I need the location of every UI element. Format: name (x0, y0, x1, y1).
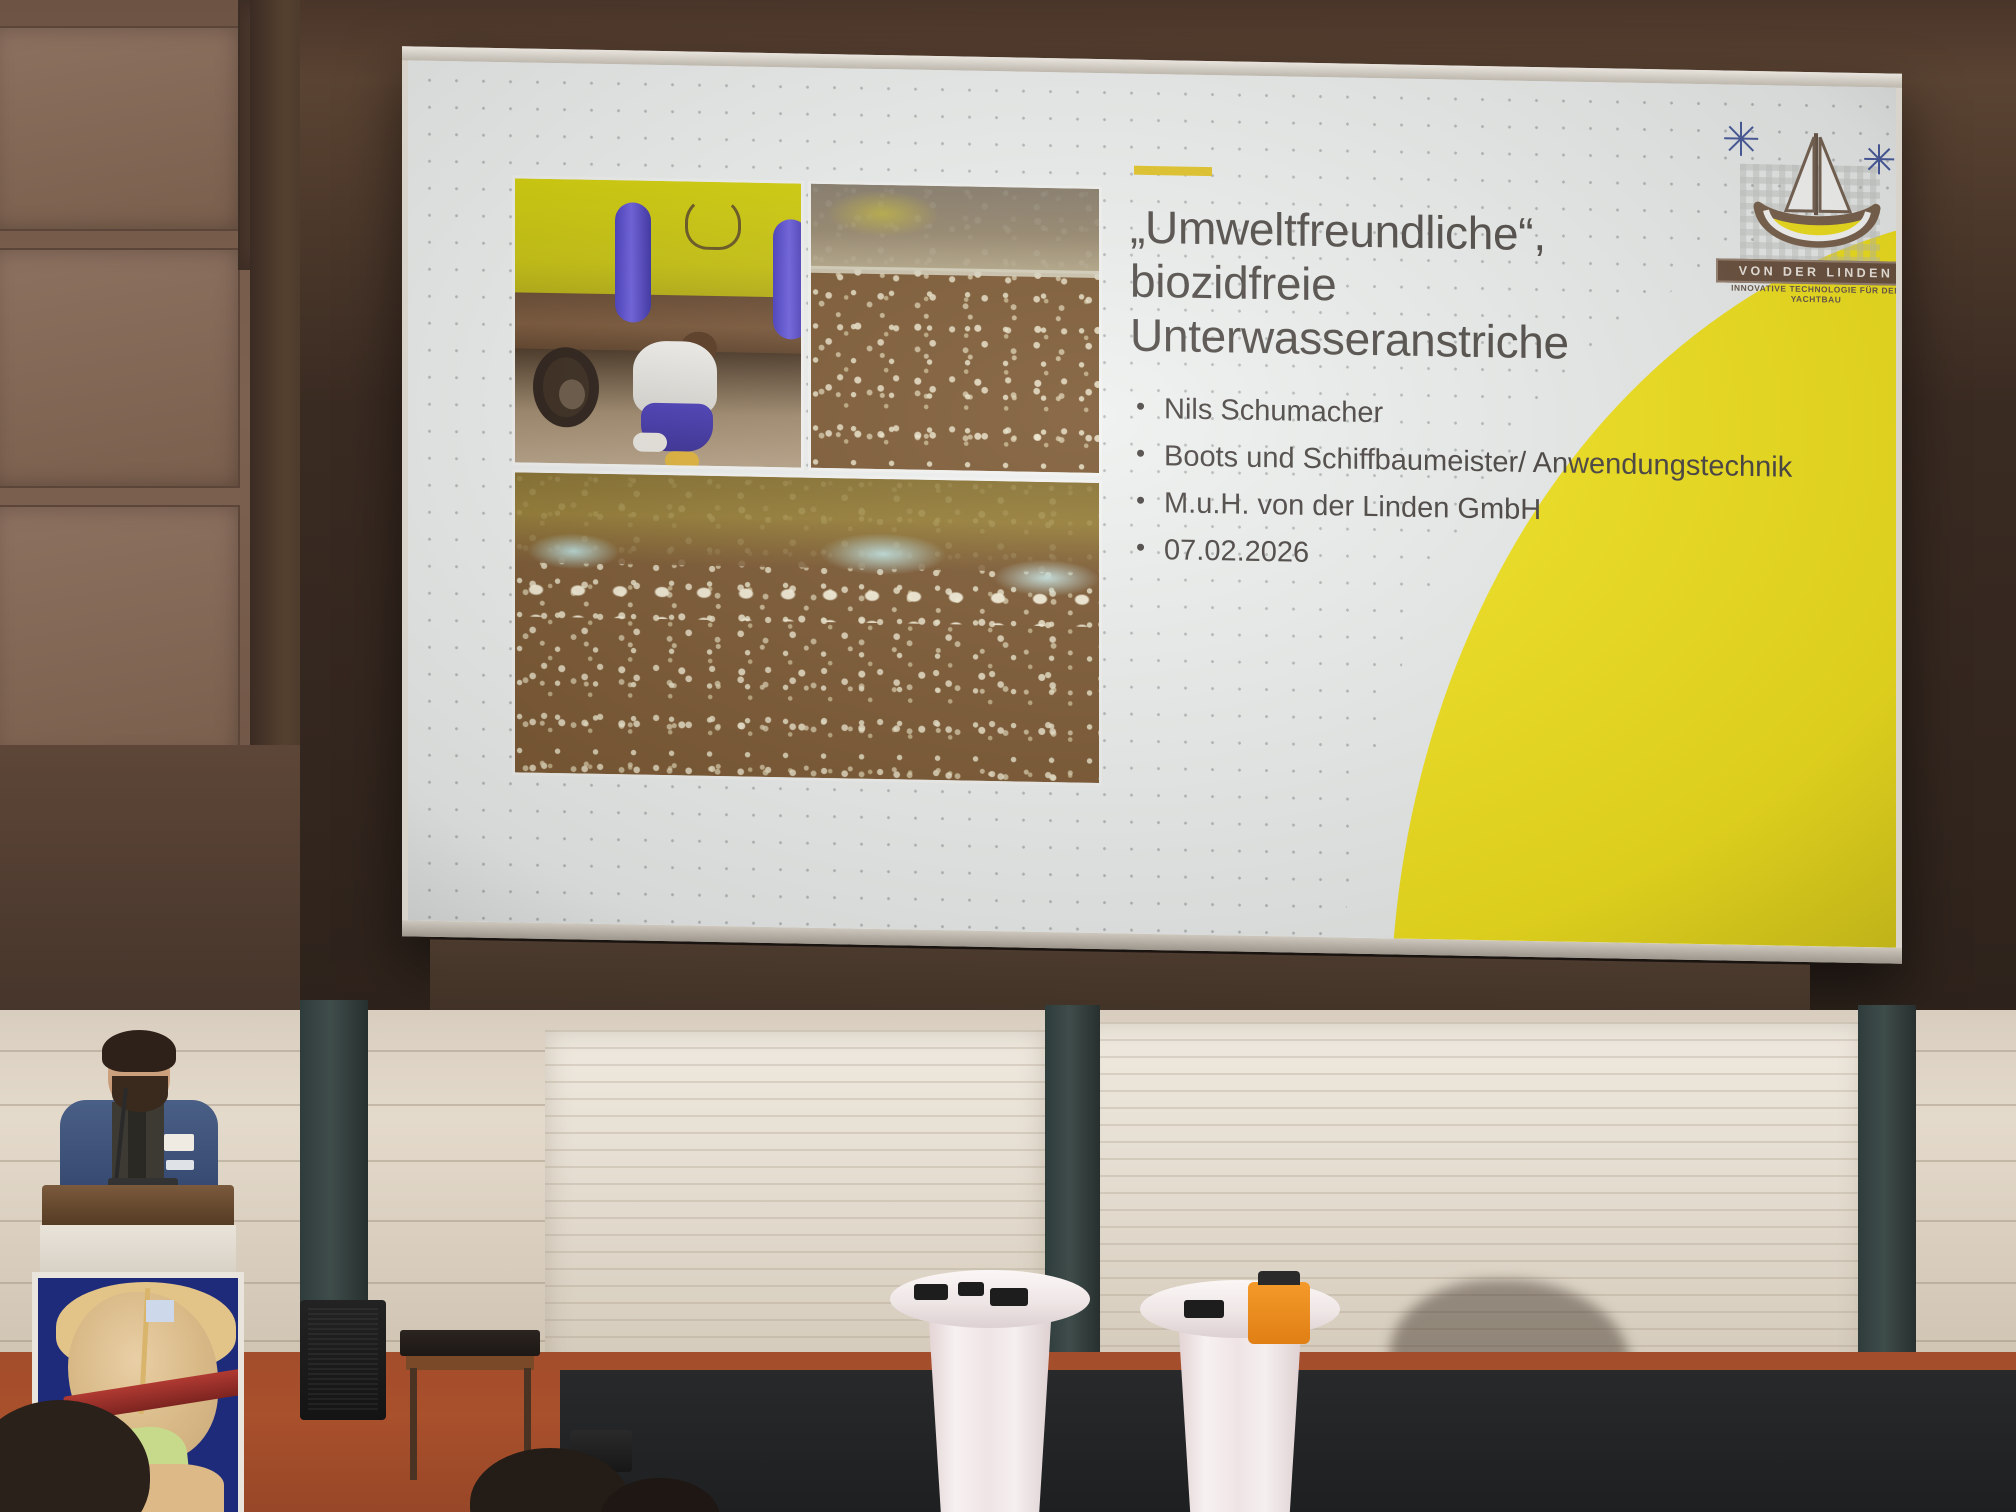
slide-photo-collage (512, 175, 1102, 786)
presentation-slide: „Umweltfreundliche“, biozidfreie Unterwa… (408, 60, 1896, 947)
table-skirt (928, 1306, 1052, 1512)
paint-flake-patch (819, 532, 947, 576)
cocktail-table-left (890, 1270, 1090, 1512)
venue-room: „Umweltfreundliche“, biozidfreie Unterwa… (0, 0, 2016, 1512)
black-folded-cloth (1184, 1300, 1224, 1318)
hull-fouling-closeup-photo (808, 181, 1102, 476)
orange-portable-speaker (1248, 1282, 1310, 1344)
presenter-hair (102, 1030, 176, 1072)
worker-shoe (665, 451, 699, 471)
acoustic-panel (0, 505, 240, 760)
accent-bar (1134, 166, 1212, 176)
pocket-square (166, 1160, 194, 1170)
table-skirt (1178, 1316, 1302, 1512)
table-shelf (406, 1356, 534, 1370)
yellow-paint-patch (828, 190, 937, 237)
logo-tagline: INNOVATIVE TECHNOLOGIE FÜR DEN YACHTBAU (1716, 282, 1896, 306)
barnacle-growth-photo (512, 469, 1102, 786)
projection-screen: „Umweltfreundliche“, biozidfreie Unterwa… (402, 46, 1902, 963)
blue-fender (773, 219, 804, 340)
yellow-hull-area (515, 178, 801, 303)
black-remote (958, 1282, 984, 1296)
table-top (1140, 1280, 1340, 1338)
acoustic-panel (0, 26, 240, 231)
trailer-tire (533, 347, 599, 428)
presenter-beard (112, 1076, 168, 1112)
acoustic-panel (0, 248, 240, 488)
speaker-grille (308, 1308, 378, 1412)
banner-flag (146, 1300, 174, 1322)
rope-loop (685, 195, 741, 250)
left-acoustic-wall (0, 0, 320, 1010)
table-leg (410, 1368, 417, 1480)
blue-fender (615, 202, 651, 323)
name-badge (164, 1134, 194, 1151)
von-der-linden-logo: VON DER LINDEN INNOVATIVE TECHNOLOGIE FÜ… (1716, 109, 1896, 308)
sailboat-icon (1742, 118, 1892, 271)
floor-speaker-monitor (300, 1300, 386, 1420)
presenter (48, 1030, 228, 1200)
slide-bullet-list: Nils Schumacher Boots und Schiffbaumeist… (1130, 386, 1830, 587)
wall-lower-section (0, 745, 330, 1015)
cocktail-table-right (1140, 1280, 1340, 1512)
black-folded-cloth (914, 1284, 948, 1300)
paint-flake-patch (527, 533, 620, 571)
stage-pillar (1858, 1005, 1916, 1405)
black-folded-cloth (990, 1288, 1028, 1306)
worker-shoe (633, 432, 667, 452)
boat-hull-worker-photo (512, 175, 804, 470)
table-top (400, 1330, 540, 1356)
